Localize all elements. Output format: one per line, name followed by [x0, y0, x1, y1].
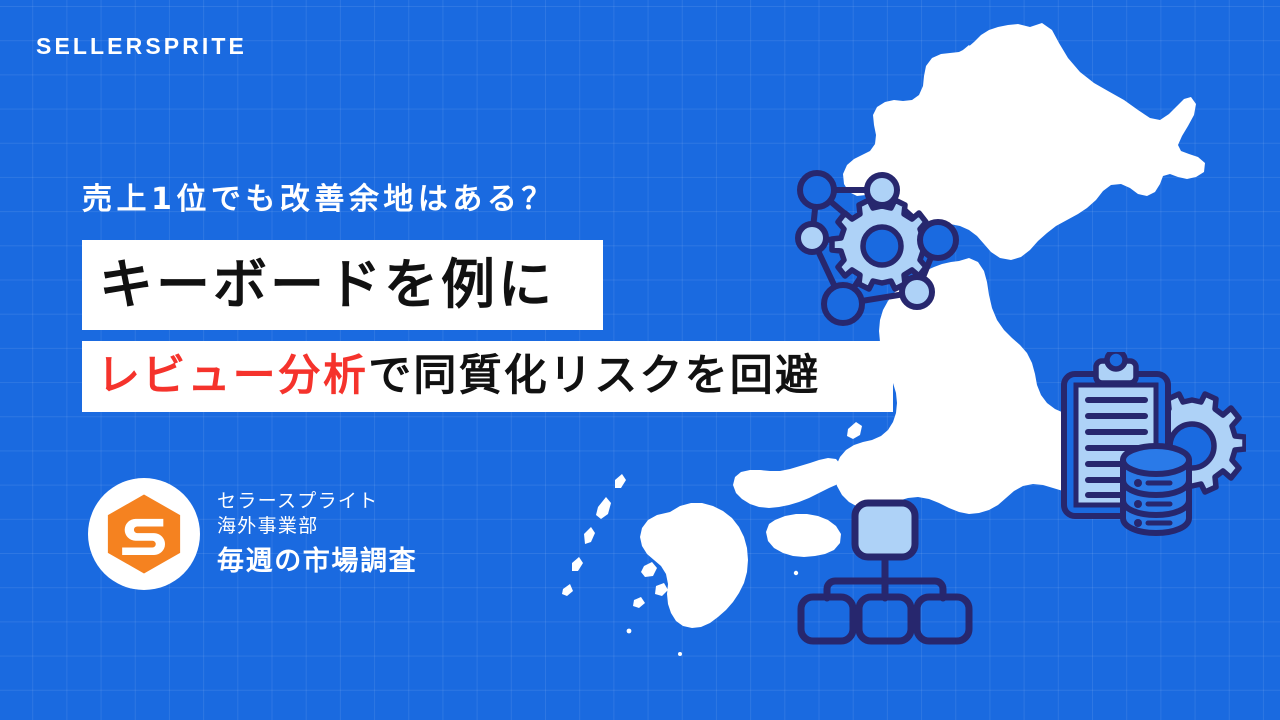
headline-primary-text: キーボードを例に: [99, 258, 555, 312]
slide-canvas: SELLERSPRITE 売上1位でも改善余地はある？ キーボードを例に レビュ…: [0, 0, 1280, 720]
clipboard-database-gear-icon: [1046, 352, 1246, 542]
kicker-text: 売上1位でも改善余地はある？: [82, 174, 556, 218]
identity-line-3: 毎週の市場調査: [217, 544, 417, 579]
sellersprite-wordmark: SELLERSPRITE: [36, 33, 247, 60]
identity-line-2: 海外事業部: [217, 514, 417, 539]
identity-line-1: セラースプライト: [217, 489, 417, 514]
headline-secondary-band: レビュー分析で同質化リスクを回避: [82, 341, 893, 412]
identity-block: セラースプライト 海外事業部 毎週の市場調査: [88, 478, 417, 590]
org-chart-icon: [793, 493, 978, 645]
headline-secondary-rest-text: で同質化リスクを回避: [368, 355, 820, 398]
network-gear-icon: [786, 163, 976, 338]
headline-secondary-accent-text: レビュー分析: [97, 355, 368, 398]
headline-primary-band: キーボードを例に: [82, 240, 603, 330]
sellersprite-logo-icon: [88, 478, 200, 590]
identity-text-block: セラースプライト 海外事業部 毎週の市場調査: [217, 489, 417, 579]
